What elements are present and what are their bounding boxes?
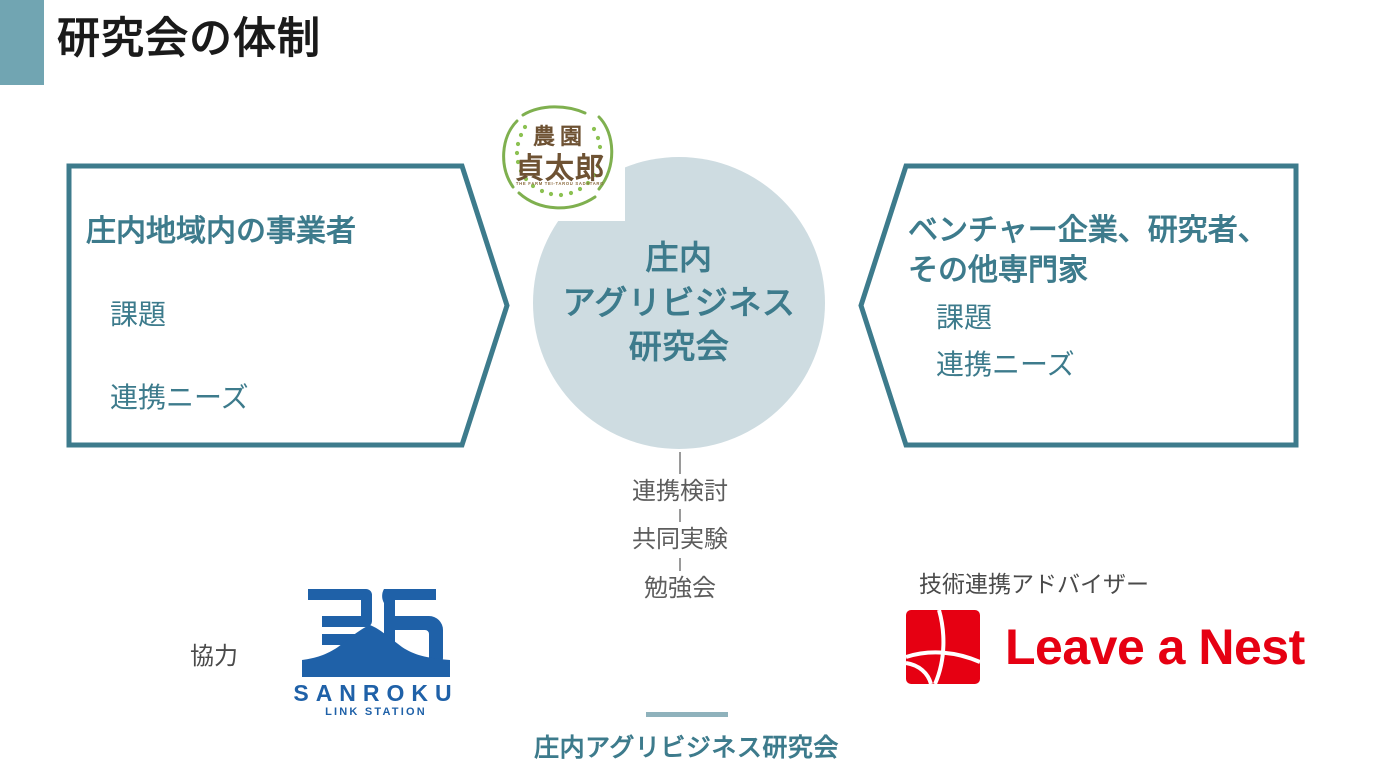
- sanroku-name: SANROKU: [293, 680, 458, 707]
- panel-left-item-1: 連携ニーズ: [110, 377, 356, 418]
- page-title: 研究会の体制: [57, 4, 321, 66]
- chain-label-1: 共同実験: [600, 522, 760, 557]
- cooperation-block: 協力 SANROKU LINK STATION: [190, 585, 452, 721]
- slide-canvas: 研究会の体制 庄内地域内の事業者 課題 連携ニーズ ベンチャー企業、研究者、 そ…: [0, 0, 1373, 781]
- panel-left-item-0: 課題: [110, 294, 356, 335]
- panel-ventures-researchers: ベンチャー企業、研究者、 その他専門家 課題 連携ニーズ: [858, 163, 1299, 448]
- chain-connector-2: [679, 558, 681, 571]
- panel-local-businesses: 庄内地域内の事業者 課題 連携ニーズ: [66, 163, 510, 448]
- chain-label-0: 連携検討: [600, 474, 760, 509]
- panel-right-heading-line2: その他専門家: [908, 251, 1268, 291]
- panel-right-heading-line1: ベンチャー企業、研究者、: [908, 211, 1268, 251]
- chain-connector-1: [679, 509, 681, 522]
- title-accent-bar: [0, 0, 44, 85]
- panel-right-item-1: 連携ニーズ: [936, 344, 1268, 385]
- center-activity-chain: 連携検討 共同実験 勉強会: [600, 452, 760, 606]
- logo-nouen-sadataro: 農園 貞太郎 THE FARM TEI-TAROU SADATARO: [495, 101, 625, 221]
- leave-a-nest-logo: Leave a Nest: [905, 609, 1305, 685]
- leave-a-nest-name: Leave a Nest: [1005, 618, 1305, 676]
- panel-right-item-0: 課題: [936, 297, 1268, 338]
- cooperation-label: 協力: [190, 636, 238, 671]
- circle-line-1: アグリビジネス: [563, 281, 796, 326]
- footer: 庄内アグリビジネス研究会: [0, 712, 1373, 764]
- sanroku-mountain-icon: [300, 585, 452, 680]
- chain-label-2: 勉強会: [600, 571, 760, 606]
- leave-a-nest-mark-icon: [905, 609, 981, 685]
- panel-right-text: ベンチャー企業、研究者、 その他専門家 課題 連携ニーズ: [908, 211, 1268, 386]
- advisor-label: 技術連携アドバイザー: [919, 565, 1305, 599]
- advisor-block: 技術連携アドバイザー Leave a Nest: [905, 565, 1305, 685]
- circle-line-2: 研究会: [629, 325, 730, 370]
- panel-left-text: 庄内地域内の事業者 課題 連携ニーズ: [86, 212, 356, 419]
- panel-left-heading: 庄内地域内の事業者: [86, 212, 356, 252]
- circle-line-0: 庄内: [646, 236, 713, 281]
- chain-connector-0: [679, 452, 681, 474]
- footer-text: 庄内アグリビジネス研究会: [0, 728, 1373, 764]
- footer-rule: [646, 712, 728, 717]
- logo-sadataro-latin: THE FARM TEI-TAROU SADATARO: [516, 181, 604, 186]
- logo-sanroku: SANROKU LINK STATION: [300, 585, 452, 721]
